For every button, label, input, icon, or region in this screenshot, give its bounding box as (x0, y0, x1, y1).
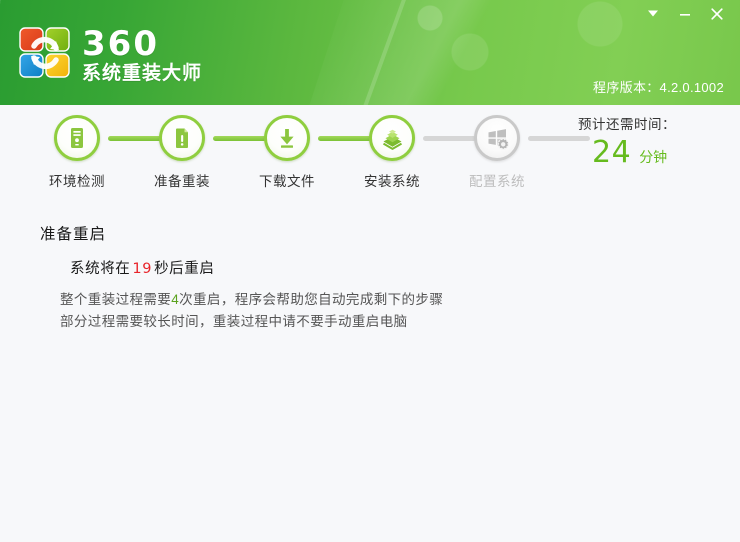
app-window: 360 系统重装大师 程序版本：4.2.0.1002 环境检 (0, 0, 740, 542)
app-logo-area: 360 系统重装大师 (18, 26, 202, 84)
header-sheen-line-decor (346, 0, 418, 105)
360-logo-icon (18, 26, 72, 80)
eta-value-row: 24 分钟 (578, 137, 718, 169)
collapse-button[interactable] (638, 1, 668, 27)
description-line-1: 整个重装过程需要4次重启，程序会帮助您自动完成剩下的步骤 (60, 289, 443, 311)
step-5-label: 配置系统 (452, 170, 542, 190)
step-4-label: 安装系统 (347, 170, 437, 190)
eta-minutes-value: 24 (592, 137, 631, 169)
step-1-label: 环境检测 (32, 170, 122, 190)
desktop-computer-icon (64, 125, 90, 151)
step-item-3[interactable]: 下载文件 (242, 115, 332, 190)
description-line-1-suffix: 次重启，程序会帮助您自动完成剩下的步骤 (179, 292, 443, 307)
step-item-4[interactable]: 安装系统 (347, 115, 437, 190)
page-title: 准备重启 (40, 222, 106, 244)
app-title-text: 360 系统重装大师 (82, 26, 202, 84)
header-sheen-decor (295, 0, 594, 105)
eta-label: 预计还需时间： (578, 113, 718, 133)
eta-minutes-unit: 分钟 (639, 147, 667, 167)
description-block: 整个重装过程需要4次重启，程序会帮助您自动完成剩下的步骤 部分过程需要较长时间，… (60, 289, 443, 333)
countdown-message: 系统将在19秒后重启 (70, 257, 214, 278)
install-box-icon (379, 125, 406, 152)
step-progress-bar: 环境检测 准备重装 下载文件 (0, 105, 595, 200)
minimize-button[interactable] (670, 1, 700, 27)
countdown-suffix: 秒后重启 (154, 261, 214, 277)
step-3-circle (264, 115, 310, 161)
step-1-circle (54, 115, 100, 161)
window-controls (638, 0, 732, 28)
document-alert-icon (169, 125, 195, 151)
close-icon (709, 6, 725, 22)
step-item-2[interactable]: 准备重装 (137, 115, 227, 190)
logo-primary-text: 360 (82, 27, 202, 61)
main-content: 准备重启 系统将在19秒后重启 整个重装过程需要4次重启，程序会帮助您自动完成剩… (0, 205, 740, 542)
title-header: 360 系统重装大师 程序版本：4.2.0.1002 (0, 0, 740, 105)
restart-count-value: 4 (171, 292, 179, 307)
step-2-label: 准备重装 (137, 170, 227, 190)
download-arrow-icon (274, 125, 300, 151)
close-button[interactable] (702, 1, 732, 27)
step-4-circle (369, 115, 415, 161)
windows-gear-icon (484, 125, 511, 152)
step-5-circle (474, 115, 520, 161)
collapse-icon (646, 7, 660, 21)
step-item-1[interactable]: 环境检测 (32, 115, 122, 190)
countdown-seconds: 19 (130, 261, 154, 277)
step-3-label: 下载文件 (242, 170, 332, 190)
countdown-prefix: 系统将在 (70, 261, 130, 277)
step-item-5[interactable]: 配置系统 (452, 115, 542, 190)
description-line-2: 部分过程需要较长时间，重装过程中请不要手动重启电脑 (60, 311, 443, 333)
eta-panel: 预计还需时间： 24 分钟 (578, 113, 718, 169)
logo-secondary-text: 系统重装大师 (82, 64, 202, 84)
step-2-circle (159, 115, 205, 161)
minimize-icon (678, 7, 692, 21)
description-line-1-prefix: 整个重装过程需要 (60, 292, 171, 307)
version-text: 程序版本：4.2.0.1002 (593, 77, 724, 96)
